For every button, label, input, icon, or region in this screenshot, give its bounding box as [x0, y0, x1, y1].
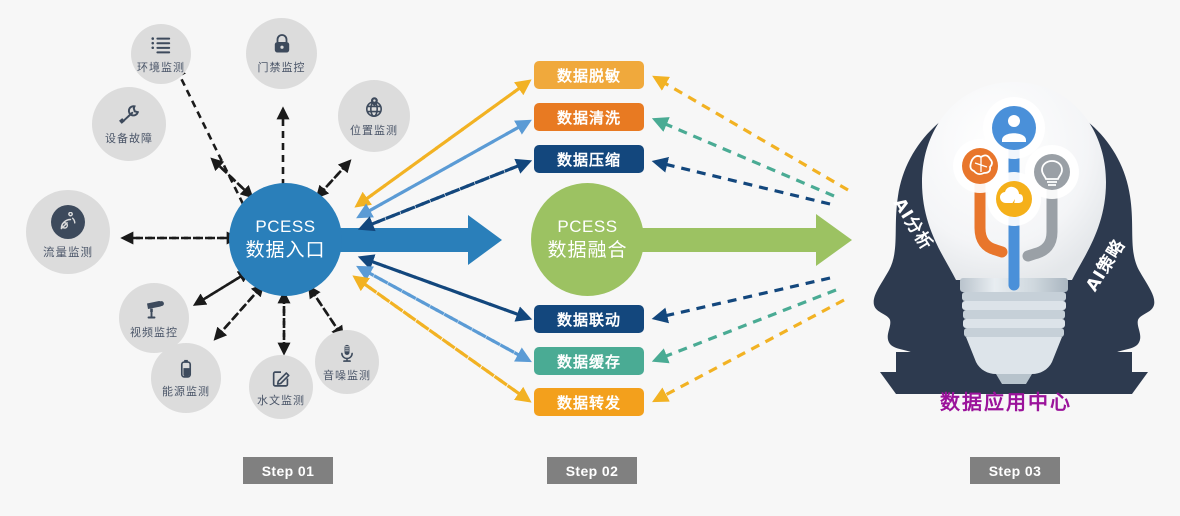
lock-icon [270, 32, 294, 56]
sensor-node-access-control[interactable]: 门禁监控 [246, 18, 317, 89]
pencil-note-icon [270, 367, 292, 389]
lightbulb-icon [1034, 154, 1070, 190]
apps-to-bottom-connectors [656, 278, 844, 400]
flow-arrow-entry-to-fusion [330, 215, 502, 265]
process-box-label: 数据缓存 [557, 351, 621, 372]
process-box-label: 数据转发 [557, 392, 621, 413]
satellite-dish-icon [58, 212, 78, 232]
sensor-node-label: 设备故障 [105, 130, 153, 146]
process-box-compression[interactable]: 数据压缩 [534, 145, 644, 173]
microphone-icon [336, 342, 358, 364]
step-chip-label: Step 01 [262, 463, 315, 479]
sensor-node-label: 门禁监控 [258, 59, 306, 75]
wrench-icon [117, 102, 142, 127]
sensor-node-label: 流量监测 [43, 244, 93, 260]
sensor-node-noise[interactable]: 音噪监测 [315, 330, 379, 394]
process-box-cleaning[interactable]: 数据清洗 [534, 103, 644, 131]
sensor-node-location[interactable]: 位置监测 [338, 80, 410, 152]
battery-icon [175, 358, 197, 380]
step-chip-label: Step 03 [989, 463, 1042, 479]
sensor-node-energy[interactable]: 能源监测 [151, 343, 221, 413]
sensor-node-device-fault[interactable]: 设备故障 [92, 87, 166, 161]
cctv-camera-icon [142, 297, 166, 321]
brain-icon [962, 148, 998, 184]
sensor-node-flow[interactable]: 流量监测 [26, 190, 110, 274]
person-icon [992, 106, 1036, 150]
cloud-bolt-icon [996, 181, 1032, 217]
process-box-linkage[interactable]: 数据联动 [534, 305, 644, 333]
sensor-node-video[interactable]: 视频监控 [119, 283, 189, 353]
sensor-node-label: 视频监控 [130, 324, 178, 340]
step-chip-01[interactable]: Step 01 [243, 457, 333, 484]
hub-fusion-en: PCESS [557, 217, 617, 237]
hub-entry-en: PCESS [255, 217, 315, 237]
hub-data-fusion[interactable]: PCESS 数据融合 [531, 183, 644, 296]
sensor-node-label: 环境监测 [137, 59, 185, 75]
data-application-center-caption: 数据应用中心 [940, 386, 1072, 415]
process-box-desensitization[interactable]: 数据脱敏 [534, 61, 644, 89]
process-box-label: 数据清洗 [557, 107, 621, 128]
sensor-node-label: 位置监测 [350, 122, 398, 138]
sensor-node-hydrology[interactable]: 水文监测 [249, 355, 313, 419]
entry-bottom-connectors [356, 258, 528, 400]
process-box-label: 数据联动 [557, 309, 621, 330]
hub-entry-cn: 数据入口 [245, 239, 325, 261]
sensor-node-label: 能源监测 [162, 383, 210, 399]
flow-icon-badge [51, 205, 85, 239]
globe-pin-icon [362, 95, 386, 119]
process-box-forward[interactable]: 数据转发 [534, 388, 644, 416]
sensor-node-label: 音噪监测 [323, 367, 371, 383]
sensor-node-environment[interactable]: 环境监测 [131, 24, 191, 84]
flow-arrow-fusion-to-apps [636, 214, 852, 266]
hub-data-entry[interactable]: PCESS 数据入口 [229, 183, 342, 296]
sensor-node-label: 水文监测 [257, 392, 305, 408]
apps-to-top-connectors [656, 78, 848, 204]
diagram-canvas: 环境监测 门禁监控 位置监测 [0, 0, 1180, 516]
list-server-icon [150, 34, 172, 56]
process-box-cache[interactable]: 数据缓存 [534, 347, 644, 375]
step-chip-03[interactable]: Step 03 [970, 457, 1060, 484]
step-chip-02[interactable]: Step 02 [547, 457, 637, 484]
step-chip-label: Step 02 [566, 463, 619, 479]
process-box-label: 数据脱敏 [557, 65, 621, 86]
process-box-label: 数据压缩 [557, 149, 621, 170]
hub-fusion-cn: 数据融合 [547, 239, 627, 261]
